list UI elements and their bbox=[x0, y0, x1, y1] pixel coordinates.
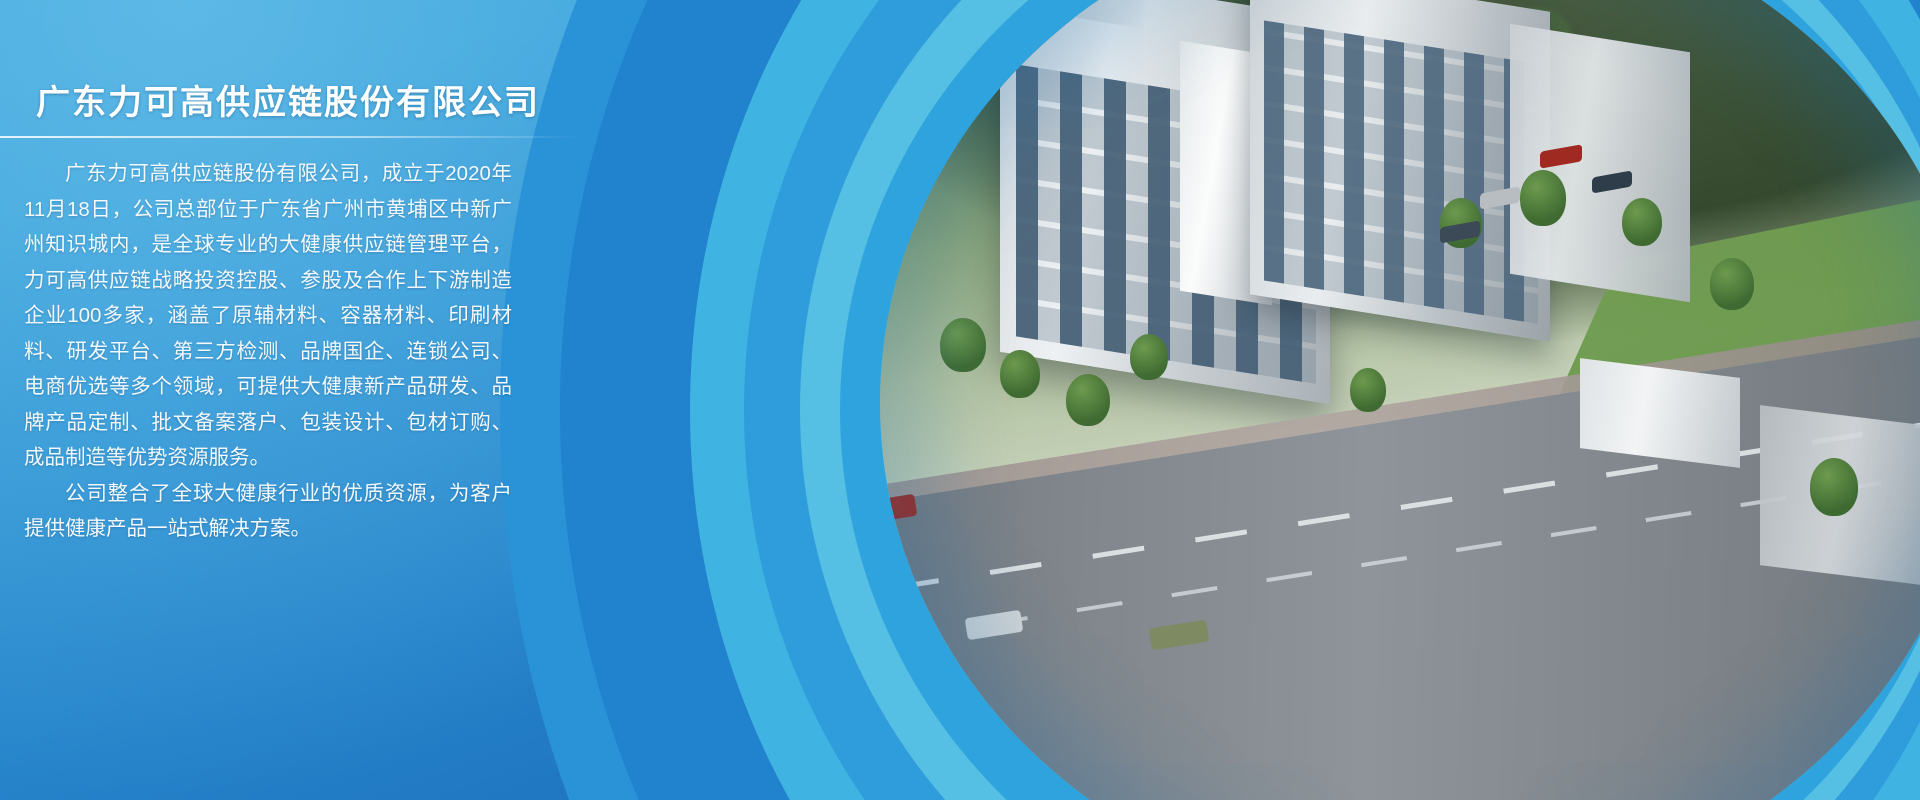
title-divider bbox=[0, 136, 578, 138]
banner-stage: 广东力可高供应链股份有限公司 广东力可高供应链股份有限公司，成立于2020年11… bbox=[0, 0, 1920, 800]
photo-vignette bbox=[880, 0, 1920, 800]
description-paragraph-1: 广东力可高供应链股份有限公司，成立于2020年11月18日，公司总部位于广东省广… bbox=[24, 156, 512, 476]
page-title: 广东力可高供应链股份有限公司 bbox=[36, 75, 556, 124]
banner-content: 广东力可高供应链股份有限公司 广东力可高供应链股份有限公司，成立于2020年11… bbox=[0, 0, 560, 800]
description-paragraph-2: 公司整合了全球大健康行业的优质资源，为客户提供健康产品一站式解决方案。 bbox=[24, 476, 512, 547]
company-description: 广东力可高供应链股份有限公司，成立于2020年11月18日，公司总部位于广东省广… bbox=[24, 156, 512, 547]
building-photo-image bbox=[880, 0, 1920, 800]
company-building-photo bbox=[880, 0, 1920, 800]
